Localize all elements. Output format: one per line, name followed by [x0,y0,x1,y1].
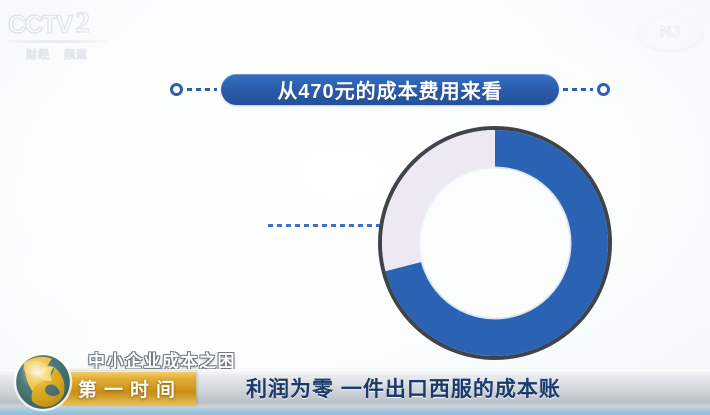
globe-logo-icon [12,351,74,413]
connector-dot-right-icon [597,83,610,96]
donut-chart [378,126,612,360]
headline-banner-pill: 从470元的成本费用来看 [221,74,559,105]
cctv-subtitle-right: 频道 [64,46,88,62]
cctv-subtitle-left: 财经 [26,46,50,62]
dashed-connector-left-icon [187,88,217,91]
program-name-badge: 第一时间 [62,371,196,405]
lower-third-headline-text: 利润为零 一件出口西服的成本账 [246,373,561,403]
corner-watermark-logo: NJ [638,10,702,56]
connector-dot-left-icon [170,83,183,96]
headline-banner: 从470元的成本费用来看 [170,73,610,106]
cctv-logo-row: CCTV 2 [8,8,116,38]
broadcast-screen: CCTV 2 财经 频道 NJ 从470元的成本费用来看 [0,0,710,415]
cctv-channel-number: 2 [75,8,90,38]
lower-third-headline: 利润为零 一件出口西服的成本账 [246,372,561,404]
chart-leader-line [268,224,380,227]
cctv-logo-underline [8,40,108,43]
cctv-wordmark: CCTV [8,13,72,38]
cctv-station-logo: CCTV 2 财经 频道 [8,8,116,64]
donut-chart-svg [378,126,612,360]
dashed-connector-right-icon [563,88,593,91]
donut-inner-hole [420,168,570,318]
lower-third-overlay: 中小企业成本之困 第一时间 利润为零 一件出口西服的成 [0,347,710,415]
watermark-text: NJ [638,10,702,56]
program-name-text: 第一时间 [78,375,182,402]
cctv-logo-subtitle: 财经 频道 [8,46,116,62]
headline-banner-title: 从470元的成本费用来看 [277,75,502,104]
